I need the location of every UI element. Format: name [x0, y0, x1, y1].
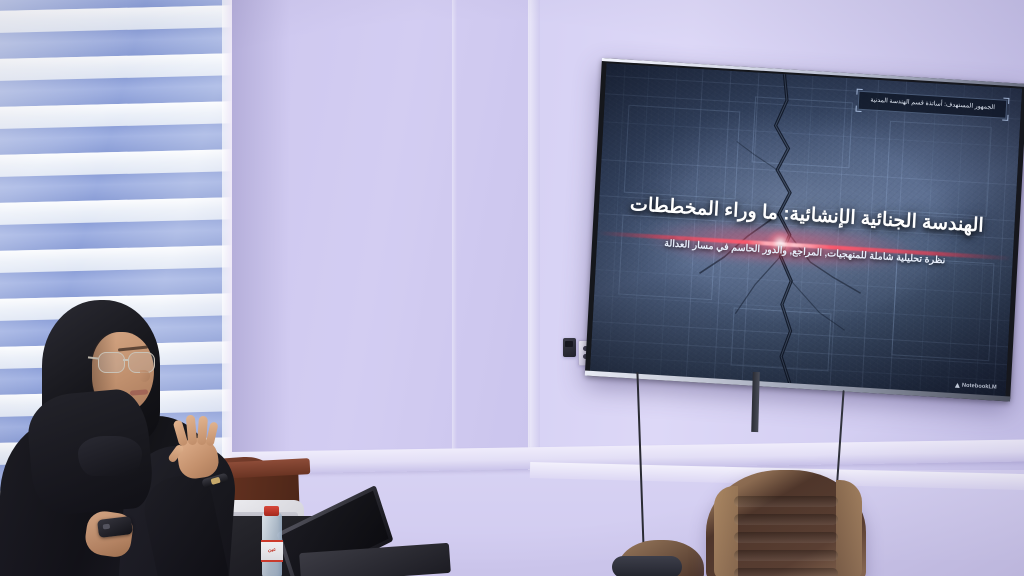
- badge-corner-icon: [856, 106, 862, 112]
- chair-backrest: [706, 470, 866, 576]
- glasses-icon: [98, 352, 160, 372]
- chair-side-panel: [836, 480, 862, 576]
- watermark-triangle-icon: [955, 383, 960, 388]
- presenter: [0, 296, 250, 576]
- badge-corner-icon: [1003, 98, 1009, 104]
- presenter-collar: [78, 436, 142, 476]
- slide-audience-text: الجمهور المستهدف: أساتذة قسم الهندسة الم…: [870, 96, 995, 111]
- glasses-bridge: [123, 359, 128, 361]
- clicker-button[interactable]: [103, 524, 111, 530]
- tv-screen: الجمهور المستهدف: أساتذة قسم الهندسة الم…: [590, 63, 1022, 396]
- motion-sensor: [563, 338, 576, 357]
- sensor-lens-icon: [565, 341, 573, 347]
- glasses-left-lens: [98, 352, 125, 373]
- presenter-gesturing-hand: [172, 414, 226, 478]
- chair-rib: [734, 496, 838, 507]
- badge-corner-icon: [1002, 115, 1008, 121]
- wall-mounted-tv: الجمهور المستهدف: أساتذة قسم الهندسة الم…: [585, 58, 1024, 402]
- room-photo: الجمهور المستهدف: أساتذة قسم الهندسة الم…: [0, 0, 1024, 576]
- chair-rib: [734, 514, 838, 525]
- bottle-label: عين: [261, 540, 283, 562]
- chair-rib: [734, 550, 838, 561]
- presenter-finger: [186, 415, 198, 446]
- badge-corner-icon: [857, 89, 863, 95]
- chair-rib: [734, 568, 838, 576]
- chair-right: [706, 470, 866, 576]
- wall-seam: [452, 0, 457, 470]
- bottle-cap: [264, 506, 279, 516]
- watch-face-icon: [210, 476, 220, 484]
- bottle-label-text: عين: [261, 547, 283, 553]
- chair-rib: [734, 532, 838, 543]
- chair-left-armrest: [612, 556, 682, 576]
